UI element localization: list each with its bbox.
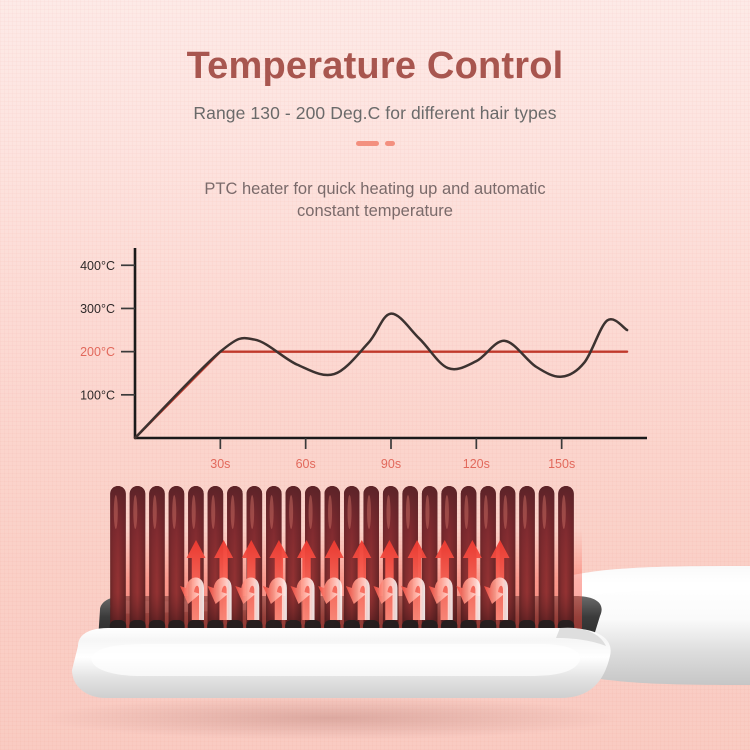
chart-series-constant [135, 352, 627, 438]
chart-x-tick-label: 150s [548, 457, 575, 471]
comb-tooth-highlight [445, 495, 449, 529]
chart-x-tick-label: 120s [463, 457, 490, 471]
chart-y-tick-label: 400°C [80, 259, 115, 273]
product-illustration [0, 470, 750, 750]
comb-tooth-shade [539, 486, 555, 638]
comb-tooth-shade [169, 486, 185, 638]
comb-tooth-highlight [406, 495, 410, 529]
page-title: Temperature Control [0, 0, 750, 87]
comb-tooth-highlight [464, 495, 468, 529]
chart-x-tick-label: 60s [296, 457, 316, 471]
comb-tooth-highlight [562, 495, 566, 529]
page-subtitle: Range 130 - 200 Deg.C for different hair… [0, 87, 750, 124]
feature-description-line2: constant temperature [0, 200, 750, 222]
chart-series-fluctuating [135, 314, 627, 438]
chart-y-tick-label: 200°C [80, 345, 115, 359]
comb-tooth-highlight [153, 495, 157, 529]
comb-tooth-shade [286, 486, 302, 638]
comb-tooth-highlight [542, 495, 546, 529]
page-root: Temperature Control Range 130 - 200 Deg.… [0, 0, 750, 750]
divider-dash-short [385, 141, 395, 146]
comb-tooth-shade [480, 486, 496, 638]
feature-description-line1: PTC heater for quick heating up and auto… [0, 178, 750, 200]
comb-tooth-highlight [192, 495, 196, 529]
dash-divider-icon [0, 124, 750, 146]
comb-teeth-group [110, 486, 582, 642]
comb-tooth-highlight [348, 495, 352, 529]
comb-tooth-highlight [309, 495, 313, 529]
comb-tooth-highlight [211, 495, 215, 529]
comb-tooth-highlight [484, 495, 488, 529]
comb-tooth-highlight [367, 495, 371, 529]
chart-x-tick-label: 30s [210, 457, 230, 471]
comb-tooth-shade [149, 486, 165, 638]
comb-tooth-highlight [289, 495, 293, 529]
header: Temperature Control Range 130 - 200 Deg.… [0, 0, 750, 146]
comb-tooth-highlight [172, 495, 176, 529]
comb-tooth-highlight [114, 495, 118, 529]
comb-tooth-shade [519, 486, 535, 638]
comb-tooth-highlight [270, 495, 274, 529]
comb-tooth-highlight [503, 495, 507, 529]
comb-tooth-shade [110, 486, 126, 638]
temperature-chart: 100°C200°C300°C400°C30s60s90s120s150s [0, 238, 750, 488]
chart-x-tick-label: 90s [381, 457, 401, 471]
chart-y-tick-label: 300°C [80, 302, 115, 316]
comb-tooth-highlight [523, 495, 527, 529]
comb-tooth-highlight [386, 495, 390, 529]
comb-tooth-highlight [250, 495, 254, 529]
temperature-chart-svg: 100°C200°C300°C400°C30s60s90s120s150s [65, 238, 685, 488]
comb-tooth-shade [130, 486, 146, 638]
comb-tooth-highlight [133, 495, 137, 529]
comb-tooth-highlight [328, 495, 332, 529]
comb-tooth-shade [344, 486, 360, 638]
product-shadow [40, 696, 620, 740]
feature-description: PTC heater for quick heating up and auto… [0, 178, 750, 223]
product-illustration-svg [0, 470, 750, 750]
comb-tooth-shade [558, 486, 574, 638]
divider-dash-long [356, 141, 379, 146]
comb-tooth-highlight [425, 495, 429, 529]
comb-tooth-highlight [231, 495, 235, 529]
body-highlight [92, 644, 581, 676]
chart-y-tick-label: 100°C [80, 388, 115, 402]
